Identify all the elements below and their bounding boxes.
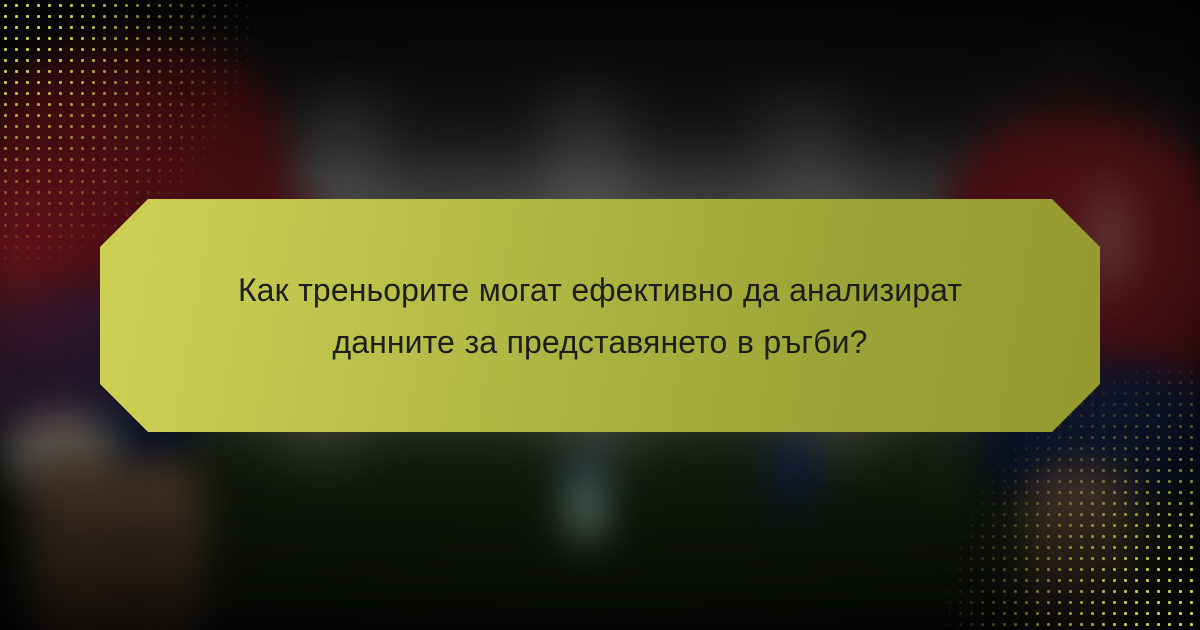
social-card: Как треньорите могат ефективно да анализ… (0, 0, 1200, 630)
headline-text: Как треньорите могат ефективно да анализ… (185, 264, 1015, 368)
headline-banner: Как треньорите могат ефективно да анализ… (100, 199, 1100, 432)
